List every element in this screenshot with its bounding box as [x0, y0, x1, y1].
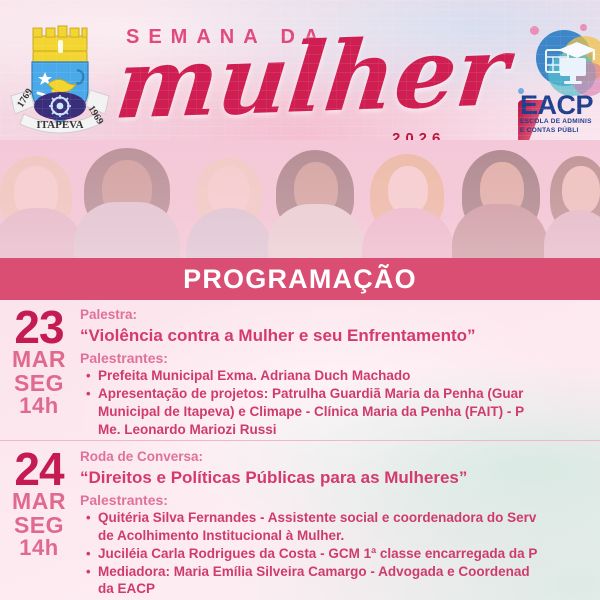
poster-title-block: SEMANA DA mulher 2026: [112, 18, 512, 145]
itapeva-coat-of-arms-icon: 1769 1969 ITAPEVA: [8, 20, 112, 138]
programacao-banner: PROGRAMAÇÃO: [0, 258, 600, 300]
list-item: Quitéria Silva Fernandes - Assistente so…: [98, 509, 600, 527]
event-title: “Violência contra a Mulher e seu Enfrent…: [80, 325, 600, 347]
event-date-column: 24 MAR SEG 14h: [0, 444, 78, 600]
schedule-event-23-mar: 23 MAR SEG 14h Palestra: “Violência cont…: [0, 302, 600, 440]
women-photo-band: [0, 140, 600, 260]
photo-person: [186, 142, 272, 260]
poster-header: 1769 1969 ITAPEVA SEMANA DA mulher 2026: [0, 0, 600, 145]
event-month: MAR: [0, 490, 78, 513]
photo-person: [72, 142, 182, 260]
decorative-dot-icon: [580, 24, 587, 31]
list-item: Mediadora: Maria Emília Silveira Camargo…: [98, 563, 600, 581]
photo-person: [544, 142, 600, 260]
decorative-dot-icon: [530, 26, 539, 35]
schedule-section: 23 MAR SEG 14h Palestra: “Violência cont…: [0, 300, 600, 600]
photo-person: [452, 142, 548, 260]
event-month: MAR: [0, 348, 78, 371]
list-item: Apresentação de projetos: Patrulha Guard…: [98, 385, 600, 403]
list-item: da EACP: [98, 580, 600, 598]
list-item: de Acolhimento Institucional à Mulher.: [98, 527, 600, 545]
event-details: Palestra: “Violência contra a Mulher e s…: [78, 302, 600, 440]
photo-person: [268, 142, 364, 260]
eacp-subtitle-line2: E CONTAS PÚBLI: [520, 127, 579, 134]
list-item: Me. Leonardo Mariozi Russi: [98, 421, 600, 439]
banner-label: PROGRAMAÇÃO: [183, 264, 417, 295]
speakers-list: Quitéria Silva Fernandes - Assistente so…: [80, 509, 600, 598]
event-time: 14h: [0, 537, 78, 559]
list-item: Juciléia Carla Rodrigues da Costa - GCM …: [98, 545, 600, 563]
event-weekday: SEG: [0, 372, 78, 395]
event-day-number: 23: [0, 306, 78, 348]
event-date-column: 23 MAR SEG 14h: [0, 302, 78, 440]
eacp-logo: EACP ESCOLA DE ADMINIS E CONTAS PÚBLI: [518, 22, 600, 140]
svg-text:ITAPEVA: ITAPEVA: [36, 119, 83, 131]
event-weekday: SEG: [0, 514, 78, 537]
event-day-number: 24: [0, 448, 78, 490]
event-kicker: Palestra:: [80, 307, 600, 324]
graduation-cap-monitor-icon: [544, 38, 600, 91]
page-title: mulher: [106, 23, 518, 133]
speakers-list: Prefeita Municipal Exma. Adriana Duch Ma…: [80, 367, 600, 438]
event-title: “Direitos e Políticas Públicas para as M…: [80, 467, 600, 489]
poster-root: 1769 1969 ITAPEVA SEMANA DA mulher 2026: [0, 0, 600, 600]
schedule-event-24-mar: 24 MAR SEG 14h Roda de Conversa: “Direit…: [0, 444, 600, 600]
eacp-acronym: EACP: [520, 90, 593, 121]
photo-person: [0, 142, 84, 260]
event-details: Roda de Conversa: “Direitos e Políticas …: [78, 444, 600, 600]
eacp-subtitle-line1: ESCOLA DE ADMINIS: [520, 118, 592, 125]
speakers-label: Palestrantes:: [80, 491, 600, 509]
list-item: Municipal de Itapeva) e Climape - Clínic…: [98, 403, 600, 421]
event-time: 14h: [0, 395, 78, 417]
photo-person: [362, 142, 454, 260]
list-item: Prefeita Municipal Exma. Adriana Duch Ma…: [98, 367, 600, 385]
event-kicker: Roda de Conversa:: [80, 449, 600, 466]
event-divider: [0, 440, 600, 441]
speakers-label: Palestrantes:: [80, 349, 600, 367]
eacp-subtitle: ESCOLA DE ADMINIS E CONTAS PÚBLI: [520, 118, 600, 136]
